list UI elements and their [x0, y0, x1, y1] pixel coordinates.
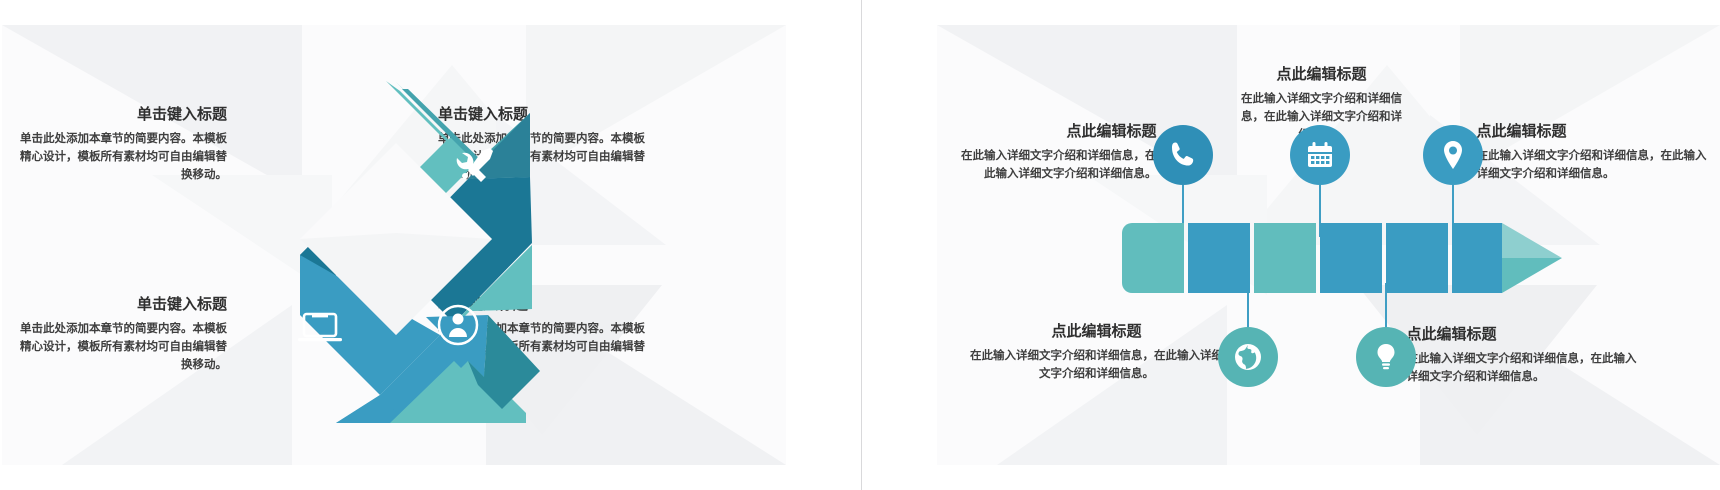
slide-2: 点此编辑标题 在此输入详细文字介绍和详细信息，在此输入详细文字介绍和详细信息。 …	[937, 25, 1720, 465]
globe-icon	[1232, 341, 1264, 373]
chevron-segment-4	[1386, 223, 1448, 293]
chevron-segment-5	[1452, 223, 1502, 293]
slide1-block-bottom-left-title: 单击键入标题	[12, 293, 227, 317]
slide2-block-bottom-left-title: 点此编辑标题	[967, 320, 1227, 344]
slide-1: 单击键入标题 单击此处添加本章节的简要内容。本模板精心设计，模板所有素材均可自由…	[2, 25, 786, 465]
slide1-block-top-left-body: 单击此处添加本章节的简要内容。本模板精心设计，模板所有素材均可自由编辑替换移动。	[12, 130, 227, 184]
chevron-segment-2	[1254, 223, 1316, 293]
slide-divider	[861, 0, 862, 490]
slide2-block-right-title: 点此编辑标题	[1477, 120, 1707, 144]
slide1-block-bottom-left-body: 单击此处添加本章节的简要内容。本模板精心设计，模板所有素材均可自由编辑替换移动。	[12, 320, 227, 374]
lightbulb-icon	[1370, 341, 1402, 373]
pencil-tip-lower	[1502, 258, 1562, 293]
icon-location[interactable]	[1423, 125, 1483, 185]
slide2-block-bottom-right: 点此编辑标题 在此输入详细文字介绍和详细信息，在此输入详细文字介绍和详细信息。	[1407, 323, 1637, 386]
calendar-icon	[1304, 139, 1336, 171]
icon-calendar[interactable]	[1290, 125, 1350, 185]
chevron-segment-3	[1320, 223, 1382, 293]
icon-phone[interactable]	[1153, 125, 1213, 185]
location-pin-icon	[1437, 139, 1469, 171]
slide2-block-bottom-right-title: 点此编辑标题	[1407, 323, 1637, 347]
slide1-block-top-left: 单击键入标题 单击此处添加本章节的简要内容。本模板精心设计，模板所有素材均可自由…	[12, 103, 227, 184]
chevron-segment-1	[1188, 223, 1250, 293]
slide2-block-bottom-left-body: 在此输入详细文字介绍和详细信息，在此输入详细文字介绍和详细信息。	[967, 347, 1227, 383]
slide2-block-top-center-title: 点此编辑标题	[1237, 63, 1407, 87]
icon-lightbulb[interactable]	[1356, 327, 1416, 387]
chevron-segment-0	[1122, 223, 1184, 293]
pencil-tip-upper	[1502, 223, 1562, 258]
cycle-diagram	[240, 83, 550, 423]
phone-icon	[1167, 139, 1199, 171]
slide2-block-right-body: 在此输入详细文字介绍和详细信息，在此输入详细文字介绍和详细信息。	[1477, 147, 1707, 183]
slide1-block-top-left-title: 单击键入标题	[12, 103, 227, 127]
slide2-block-left-title: 点此编辑标题	[957, 120, 1157, 144]
slide-deck: 单击键入标题 单击此处添加本章节的简要内容。本模板精心设计，模板所有素材均可自由…	[0, 0, 1720, 490]
slide2-block-left: 点此编辑标题 在此输入详细文字介绍和详细信息，在此输入详细文字介绍和详细信息。	[957, 120, 1157, 183]
slide2-block-bottom-left: 点此编辑标题 在此输入详细文字介绍和详细信息，在此输入详细文字介绍和详细信息。	[967, 320, 1227, 383]
slide1-block-bottom-left: 单击键入标题 单击此处添加本章节的简要内容。本模板精心设计，模板所有素材均可自由…	[12, 293, 227, 374]
chevron-bar	[1122, 223, 1562, 293]
slide2-block-left-body: 在此输入详细文字介绍和详细信息，在此输入详细文字介绍和详细信息。	[957, 147, 1157, 183]
slide2-block-bottom-right-body: 在此输入详细文字介绍和详细信息，在此输入详细文字介绍和详细信息。	[1407, 350, 1637, 386]
icon-globe[interactable]	[1218, 327, 1278, 387]
slide2-block-right: 点此编辑标题 在此输入详细文字介绍和详细信息，在此输入详细文字介绍和详细信息。	[1477, 120, 1707, 183]
